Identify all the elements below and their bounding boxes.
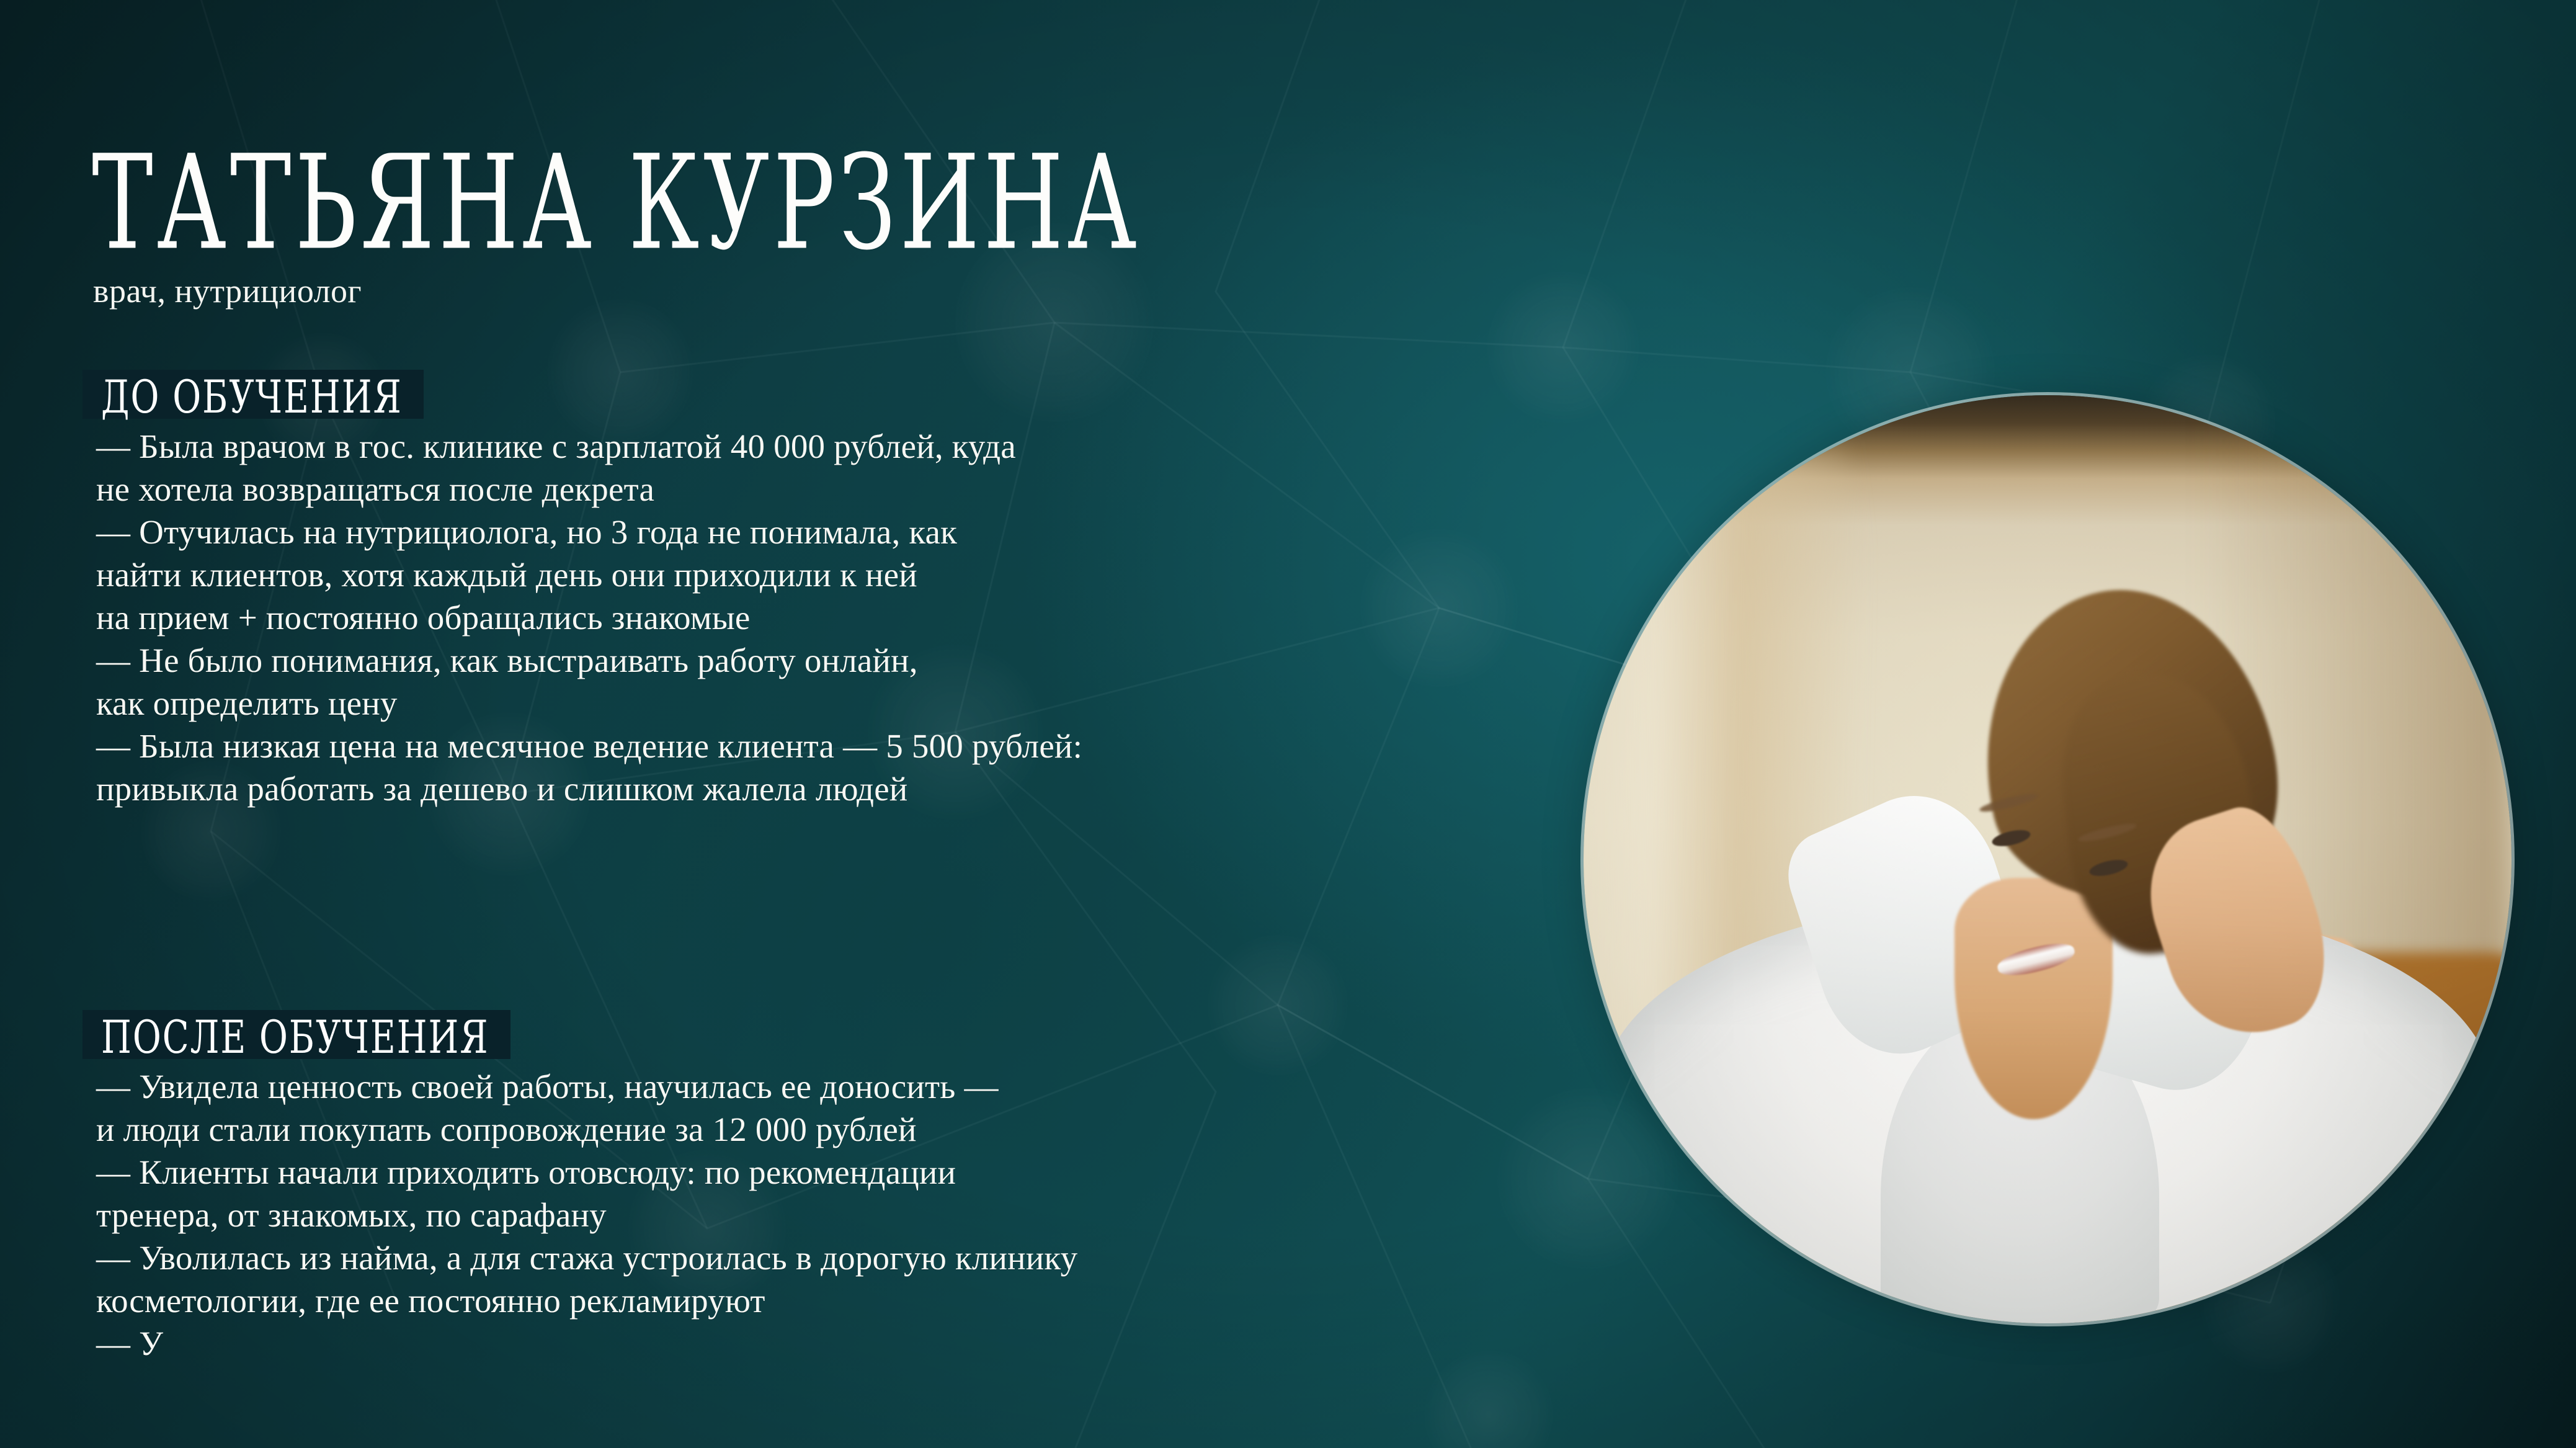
section-after-training: ПОСЛЕ ОБУЧЕНИЯ — Увидела ценность своей … [0, 1010, 1625, 1365]
list-item: не хотела возвращаться после декрета [0, 468, 1625, 511]
list-item: как определить цену [0, 682, 1625, 725]
section-before-training: ДО ОБУЧЕНИЯ — Была врачом в гос. клинике… [0, 370, 1625, 810]
slide-root: ТАТЬЯНА КУРЗИНА врач, нутрициолог ДО ОБУ… [0, 0, 2576, 1448]
list-item: — У [0, 1322, 1625, 1365]
list-item: тренера, от знакомых, по сарафану [0, 1194, 1625, 1236]
list-item: и люди стали покупать сопровождение за 1… [0, 1108, 1625, 1151]
list-item: — Была врачом в гос. клинике с зарплатой… [0, 425, 1625, 468]
page-title: ТАТЬЯНА КУРЗИНА [92, 138, 1140, 268]
portrait-photo [1584, 395, 2511, 1323]
badge-before-training: ДО ОБУЧЕНИЯ [82, 370, 424, 419]
after-training-list: — Увидела ценность своей работы, научила… [0, 1065, 1625, 1365]
list-item: — Увидела ценность своей работы, научила… [0, 1065, 1625, 1108]
role-subtitle: врач, нутрициолог [93, 272, 362, 310]
text-column: ТАТЬЯНА КУРЗИНА врач, нутрициолог ДО ОБУ… [0, 0, 1625, 1448]
badge-after-training-label: ПОСЛЕ ОБУЧЕНИЯ [101, 1016, 489, 1061]
list-item: — Не было понимания, как выстраивать раб… [0, 639, 1625, 682]
list-item: — Уволилась из найма, а для стажа устрои… [0, 1236, 1625, 1279]
badge-after-training: ПОСЛЕ ОБУЧЕНИЯ [82, 1010, 510, 1059]
list-item: найти клиентов, хотя каждый день они при… [0, 553, 1625, 596]
list-item: — Клиенты начали приходить отовсюду: по … [0, 1151, 1625, 1194]
portrait-image [1584, 395, 2511, 1323]
list-item: привыкла работать за дешево и слишком жа… [0, 767, 1625, 810]
before-training-list: — Была врачом в гос. клинике с зарплатой… [0, 425, 1625, 810]
list-item: на прием + постоянно обращались знакомые [0, 596, 1625, 639]
list-item: — Отучилась на нутрициолога, но 3 года н… [0, 511, 1625, 553]
list-item: — Была низкая цена на месячное ведение к… [0, 725, 1625, 767]
badge-before-training-label: ДО ОБУЧЕНИЯ [101, 375, 403, 421]
list-item: косметологии, где ее постоянно рекламиру… [0, 1279, 1625, 1322]
